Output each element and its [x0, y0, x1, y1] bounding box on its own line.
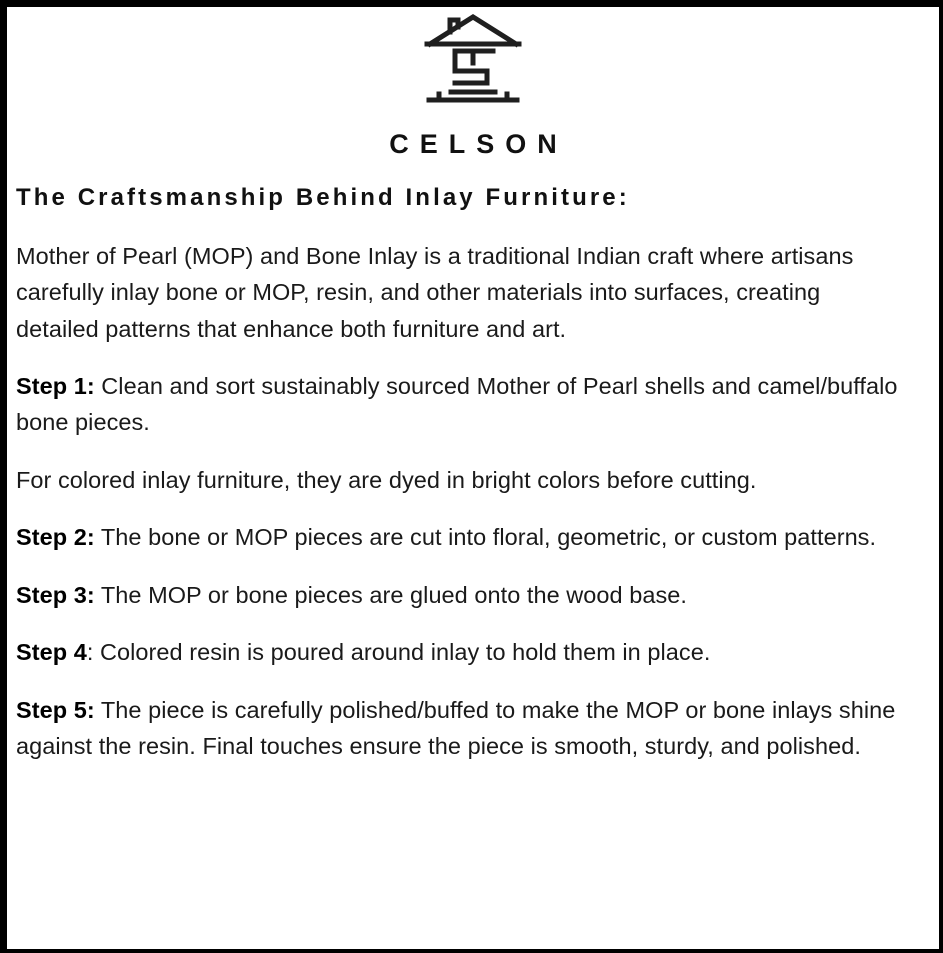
poster-inner: CELSON The Craftsmanship Behind Inlay Fu… [7, 7, 939, 949]
step-5-label: Step 5: [16, 697, 95, 723]
step-4-text: Colored resin is poured around inlay to … [93, 639, 710, 665]
step-3-label: Step 3: [16, 582, 95, 608]
step-1-label: Step 1: [16, 373, 95, 399]
step-2-text: The bone or MOP pieces are cut into flor… [95, 524, 876, 550]
body-copy: Mother of Pearl (MOP) and Bone Inlay is … [16, 238, 900, 765]
paragraph-note-dyeing: For colored inlay furniture, they are dy… [16, 462, 900, 498]
paragraph-step-2: Step 2: The bone or MOP pieces are cut i… [16, 519, 900, 555]
step-1-text: Clean and sort sustainably sourced Mothe… [16, 373, 898, 435]
step-2-label: Step 2: [16, 524, 95, 550]
paragraph-step-3: Step 3: The MOP or bone pieces are glued… [16, 577, 900, 613]
step-4-label: Step 4 [16, 639, 87, 665]
paragraph-step-5: Step 5: The piece is carefully polished/… [16, 692, 900, 765]
brand-wordmark: CELSON [7, 131, 939, 158]
step-3-text: The MOP or bone pieces are glued onto th… [95, 582, 687, 608]
paragraph-intro: Mother of Pearl (MOP) and Bone Inlay is … [16, 238, 900, 347]
paragraph-step-4: Step 4: Colored resin is poured around i… [16, 634, 900, 670]
house-with-s-monogram-icon [421, 13, 525, 113]
brand-block: CELSON [7, 7, 939, 158]
step-5-text: The piece is carefully polished/buffed t… [16, 697, 895, 759]
poster-card: CELSON The Craftsmanship Behind Inlay Fu… [0, 0, 943, 953]
paragraph-step-1: Step 1: Clean and sort sustainably sourc… [16, 368, 900, 441]
page-title: The Craftsmanship Behind Inlay Furniture… [16, 184, 939, 213]
